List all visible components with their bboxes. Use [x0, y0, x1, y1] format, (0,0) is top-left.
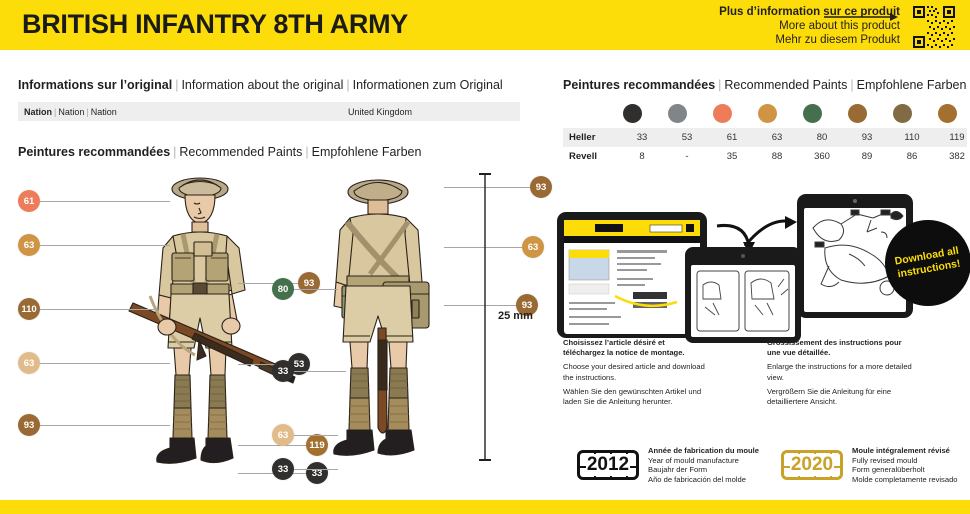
paint-code-revell-0: 8	[627, 151, 657, 162]
download-badge-label: Download all instructions!	[883, 243, 970, 284]
paint-reference-table: Heller 335361638093110119 Revell 8-35883…	[563, 128, 967, 166]
paint-callout-63: 63	[18, 352, 170, 374]
row-label-revell: Revell	[563, 151, 613, 162]
paint-code-revell-1: -	[672, 151, 702, 162]
paint-code-revell-4: 360	[807, 151, 837, 162]
right-column: Peintures recommandées|Recommended Paint…	[555, 50, 970, 490]
callout-leader-line	[294, 435, 338, 436]
callout-badge-63: 63	[272, 424, 294, 446]
callout-badge-33: 33	[272, 360, 294, 382]
paint-code-heller-5: 93	[852, 132, 882, 143]
mould-year-badge-2020: 2020	[781, 450, 843, 480]
mould-2012-es: Año de fabricación del molde	[648, 475, 759, 485]
figure-illustration-area: 6163110639393531193380336333936393 25 mm	[0, 168, 545, 488]
paint-callout-63: 63	[444, 236, 544, 258]
nation-label-de: Nation	[91, 107, 117, 117]
mould-2012-fr: Année de fabrication du moule	[648, 446, 759, 456]
paint-code-revell-2: 35	[717, 151, 747, 162]
mould-text-2020: Moule intégralement révisé Fully revised…	[852, 446, 958, 484]
heading-separator: |	[847, 78, 856, 92]
callout-leader-line	[40, 309, 158, 310]
scale-bar	[478, 172, 492, 462]
paint-callout-93: 93	[18, 414, 170, 436]
paints-heading-right: Peintures recommandées|Recommended Paint…	[563, 78, 966, 92]
paint-code-revell-3: 88	[762, 151, 792, 162]
paint-code-heller-3: 63	[762, 132, 792, 143]
left-column: Informations sur l’original|Information …	[0, 50, 545, 490]
instruction-sheet-page: BRITISH INFANTRY 8TH ARMY Plus d’informa…	[0, 0, 970, 514]
paint-swatch-61	[713, 104, 732, 123]
paint-code-revell-6: 86	[897, 151, 927, 162]
mould-2012-de: Baujahr der Form	[648, 465, 759, 475]
paints-heading-right-en: Recommended Paints	[724, 78, 847, 92]
paint-code-heller-7: 119	[942, 132, 970, 143]
paint-code-revell-7: 382	[942, 151, 970, 162]
nation-label: Nation|Nation|Nation	[18, 107, 117, 117]
paint-callout-110: 110	[18, 298, 158, 320]
paint-callout-63: 63	[18, 234, 170, 256]
caption-2-fr: Grossissement des instructions pour une …	[767, 338, 917, 358]
callout-leader-line	[294, 371, 346, 372]
paint-swatch-63	[758, 104, 777, 123]
callout-leader-line	[294, 289, 338, 290]
original-info-heading-en: Information about the original	[181, 78, 343, 92]
mould-year-2012: 2012	[586, 454, 630, 476]
callout-leader-line	[40, 245, 170, 246]
heading-separator: |	[343, 78, 352, 92]
qr-text-de: Mehr zu diesem Produkt	[719, 33, 900, 47]
footer-bar	[0, 500, 970, 514]
paint-code-heller-2: 61	[717, 132, 747, 143]
callout-badge-63: 63	[522, 236, 544, 258]
paint-swatch-80	[803, 104, 822, 123]
paint-swatch-110	[893, 104, 912, 123]
qr-code-icon[interactable]	[912, 5, 956, 49]
callout-leader-line	[40, 201, 170, 202]
paint-swatch-53	[668, 104, 687, 123]
heading-separator: |	[302, 145, 311, 159]
paint-callout-93: 93	[444, 176, 552, 198]
callout-badge-33: 33	[272, 458, 294, 480]
caption-1-en: Choose your desired article and download…	[563, 362, 708, 382]
paint-code-heller-1: 53	[672, 132, 702, 143]
nation-row: Nation|Nation|Nation United Kingdom	[18, 102, 520, 121]
callout-badge-61: 61	[18, 190, 40, 212]
original-info-heading-de: Informationen zum Original	[353, 78, 503, 92]
mould-item-2020: 2020 Moule intégralement révisé Fully re…	[781, 446, 958, 484]
instruction-caption-step-2: Grossissement des instructions pour une …	[767, 338, 917, 411]
mould-item-2012: 2012 Année de fabrication du moule Year …	[577, 446, 759, 484]
arrow-right-icon	[824, 12, 902, 22]
callout-leader-line	[40, 425, 170, 426]
paints-heading-right-fr: Peintures recommandées	[563, 78, 715, 92]
curved-arrow-up-right-icon	[743, 214, 799, 252]
mould-2020-en: Fully revised mould	[852, 456, 958, 466]
caption-1-fr: Choisissez l’article désiré et télécharg…	[563, 338, 708, 358]
tablet-instructions-icon	[683, 245, 803, 345]
qr-info-block: Plus d’information sur ce produit More a…	[617, 3, 962, 49]
paint-callout-61: 61	[18, 190, 170, 212]
nation-value: United Kingdom	[348, 107, 412, 117]
paint-callout-33: 33	[272, 360, 346, 382]
scale-label: 25 mm	[498, 310, 533, 322]
paint-callout-63: 63	[272, 424, 338, 446]
callout-badge-63: 63	[18, 352, 40, 374]
mould-2012-en: Year of mould manufacture	[648, 456, 759, 466]
row-label-heller: Heller	[563, 132, 613, 143]
download-instructions-illustration: Download all instructions!	[555, 190, 970, 320]
nation-label-fr: Nation	[24, 107, 52, 117]
paints-heading-left-en: Recommended Paints	[179, 145, 302, 159]
paint-swatch-119	[938, 104, 957, 123]
callout-badge-110: 110	[18, 298, 40, 320]
mould-year-2020: 2020	[790, 454, 834, 476]
nation-label-en: Nation	[58, 107, 84, 117]
original-info-heading-fr: Informations sur l’original	[18, 78, 172, 92]
paints-heading-left-fr: Peintures recommandées	[18, 145, 170, 159]
mould-2020-fr: Moule intégralement révisé	[852, 446, 958, 456]
caption-2-de: Vergrößern Sie die Anleitung für eine de…	[767, 387, 917, 407]
paint-code-heller-0: 33	[627, 132, 657, 143]
callout-badge-93: 93	[530, 176, 552, 198]
table-row-revell: Revell 8-35883608986382	[563, 147, 967, 166]
callout-leader-line	[294, 469, 338, 470]
paint-code-heller-6: 110	[897, 132, 927, 143]
callout-badge-63: 63	[18, 234, 40, 256]
original-info-heading: Informations sur l’original|Information …	[18, 78, 503, 92]
callout-badge-93: 93	[18, 414, 40, 436]
mould-2020-es: Molde completamente revisado	[852, 475, 958, 485]
paint-callout-33: 33	[272, 458, 338, 480]
caption-2-en: Enlarge the instructions for a more deta…	[767, 362, 917, 382]
paint-swatch-93	[848, 104, 867, 123]
callout-badge-80: 80	[272, 278, 294, 300]
mould-text-2012: Année de fabrication du moule Year of mo…	[648, 446, 759, 484]
mould-2020-de: Form generalüberholt	[852, 465, 958, 475]
paint-swatch-row	[613, 102, 963, 126]
paint-code-revell-5: 89	[852, 151, 882, 162]
header-bar: BRITISH INFANTRY 8TH ARMY Plus d’informa…	[0, 0, 970, 50]
mould-info-row: 2012 Année de fabrication du moule Year …	[563, 442, 968, 488]
paints-heading-right-de: Empfohlene Farben	[857, 78, 967, 92]
paint-code-heller-4: 80	[807, 132, 837, 143]
mould-year-badge-2012: 2012	[577, 450, 639, 480]
page-title: BRITISH INFANTRY 8TH ARMY	[22, 9, 408, 40]
caption-1-de: Wählen Sie den gewünschten Artikel und l…	[563, 387, 708, 407]
paints-heading-left-de: Empfohlene Farben	[312, 145, 422, 159]
instruction-caption-step-1: Choisissez l’article désiré et télécharg…	[563, 338, 708, 411]
table-row-heller: Heller 335361638093110119	[563, 128, 967, 147]
paints-heading-left: Peintures recommandées|Recommended Paint…	[18, 145, 421, 159]
paint-swatch-33	[623, 104, 642, 123]
paint-callout-80: 80	[272, 278, 338, 300]
callout-leader-line	[40, 363, 170, 364]
